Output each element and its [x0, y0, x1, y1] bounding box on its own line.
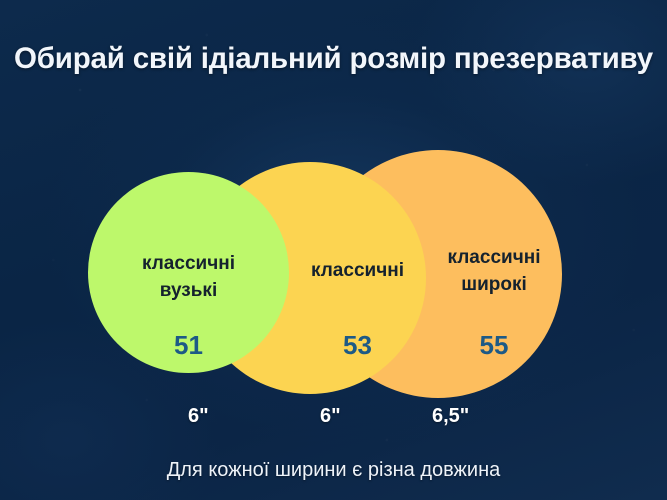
size-label-wide: 6,5": [432, 405, 469, 428]
page-title: Обирай свій ідіальний розмір презерватив…: [0, 42, 667, 76]
size-label-classic: 6": [320, 405, 341, 428]
circle-narrow-label-line2: вузькі: [160, 280, 217, 301]
circle-classic-value: 53: [289, 332, 426, 358]
circle-narrow-value: 51: [88, 332, 289, 358]
circle-wide-label-line2: широкі: [461, 274, 527, 295]
infographic-slide: Обирай свій ідіальний розмір презерватив…: [0, 0, 667, 500]
circle-wide-label: классичні широкі: [426, 245, 562, 299]
circle-classic-label-line1: классичні: [311, 260, 404, 281]
circle-narrow-label: классичні вузькі: [88, 251, 289, 305]
circle-wide-label-line1: классичні: [448, 247, 541, 268]
circle-wide-value: 55: [426, 332, 562, 358]
circle-narrow-label-line1: классичні: [142, 253, 235, 274]
page-caption: Для кожної ширини є різна довжина: [0, 459, 667, 482]
size-label-narrow: 6": [188, 405, 209, 428]
circle-classic-label: классичні: [289, 258, 426, 285]
